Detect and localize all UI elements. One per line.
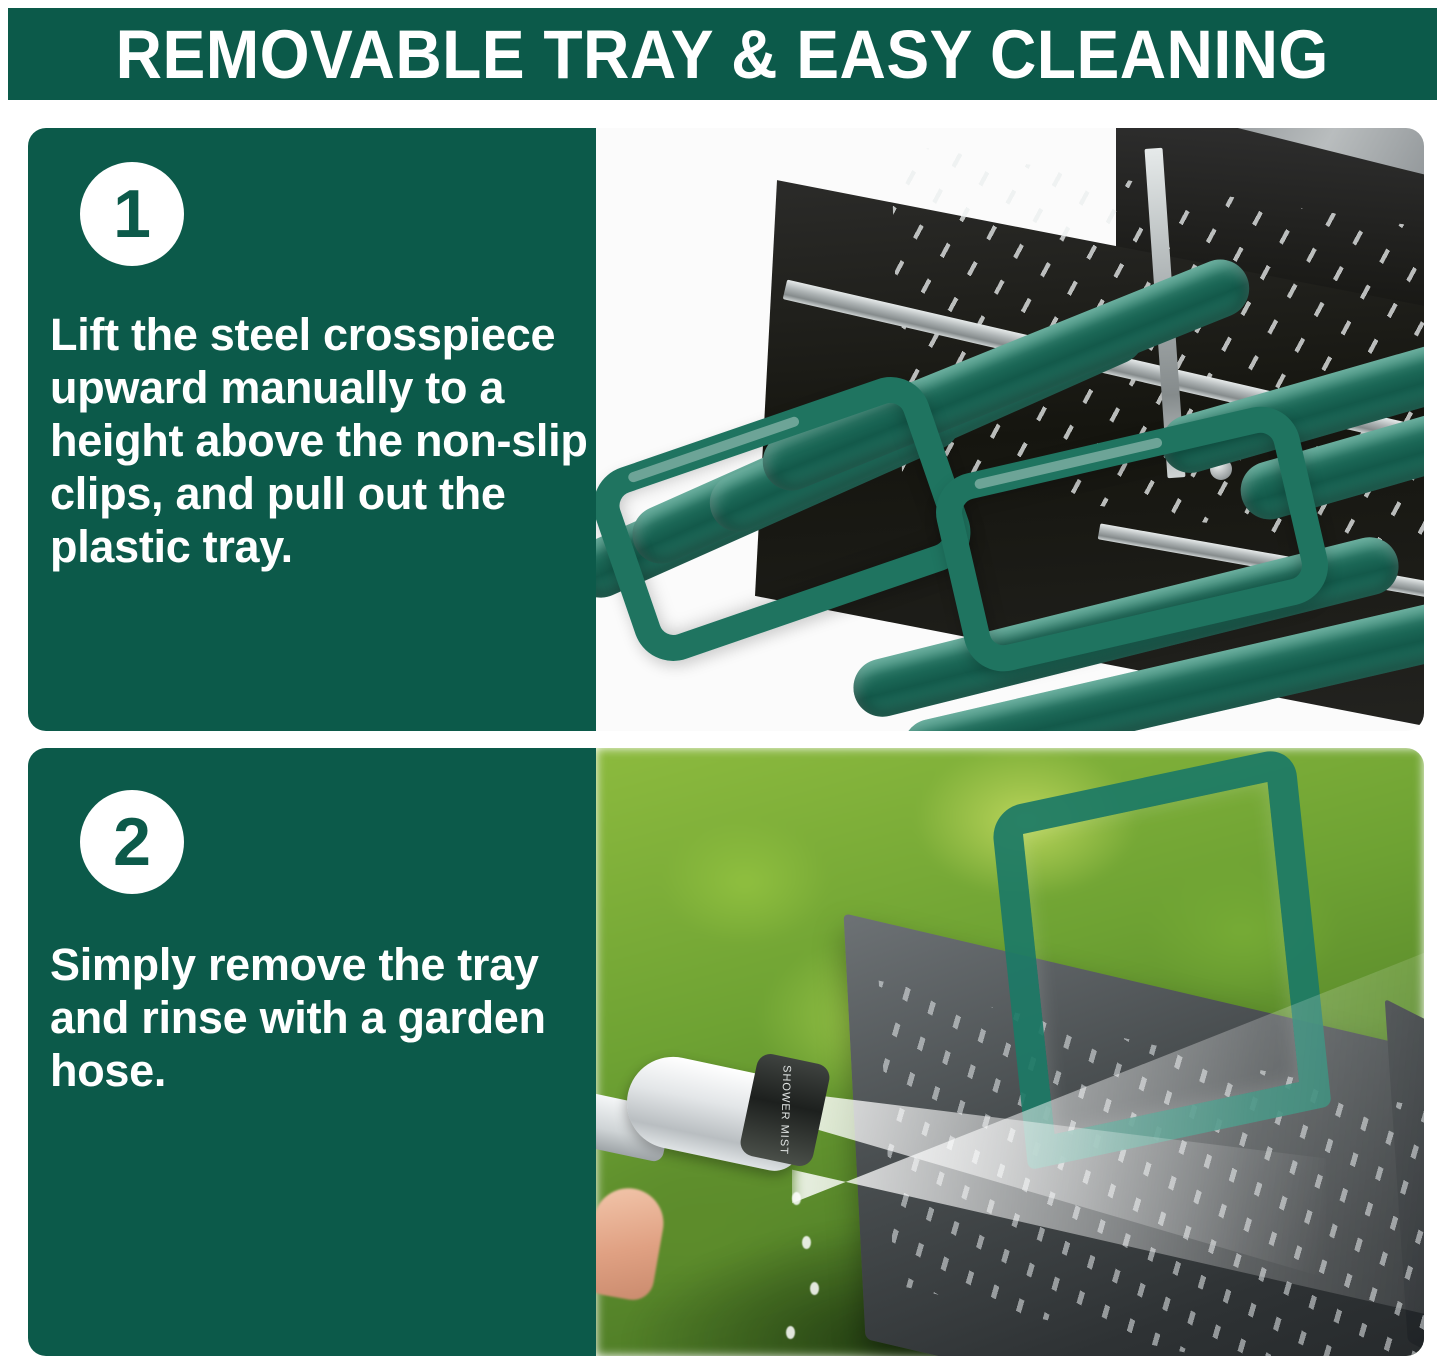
water-drop [792,1192,801,1205]
water-drop [802,1236,811,1249]
step-2-number-badge: 2 [80,790,184,894]
step-1-photo [596,128,1424,731]
header-banner: REMOVABLE TRAY & EASY CLEANING [8,8,1437,100]
water-drop [786,1326,795,1339]
step-1-description: Lift the steel crosspiece upward manuall… [50,308,590,573]
infographic-page: REMOVABLE TRAY & EASY CLEANING 1 Lift th… [0,0,1445,1359]
nozzle-collar-label: SHOWER MIST [777,1065,792,1155]
water-drop [810,1282,819,1295]
page-title: REMOVABLE TRAY & EASY CLEANING [116,20,1329,89]
step-1-text-panel: 1 Lift the steel crosspiece upward manua… [28,128,596,731]
step-row-2: 2 Simply remove the tray and rinse with … [28,748,1424,1356]
step-1-number-badge: 1 [80,162,184,266]
step-2-text-panel: 2 Simply remove the tray and rinse with … [28,748,596,1356]
step-2-description: Simply remove the tray and rinse with a … [50,938,590,1097]
step-row-1: 1 Lift the steel crosspiece upward manua… [28,128,1424,731]
step-2-photo: SHOWER MIST [596,748,1424,1356]
step-2-photo-stage: SHOWER MIST [596,748,1424,1356]
step-1-photo-stage [596,128,1424,731]
